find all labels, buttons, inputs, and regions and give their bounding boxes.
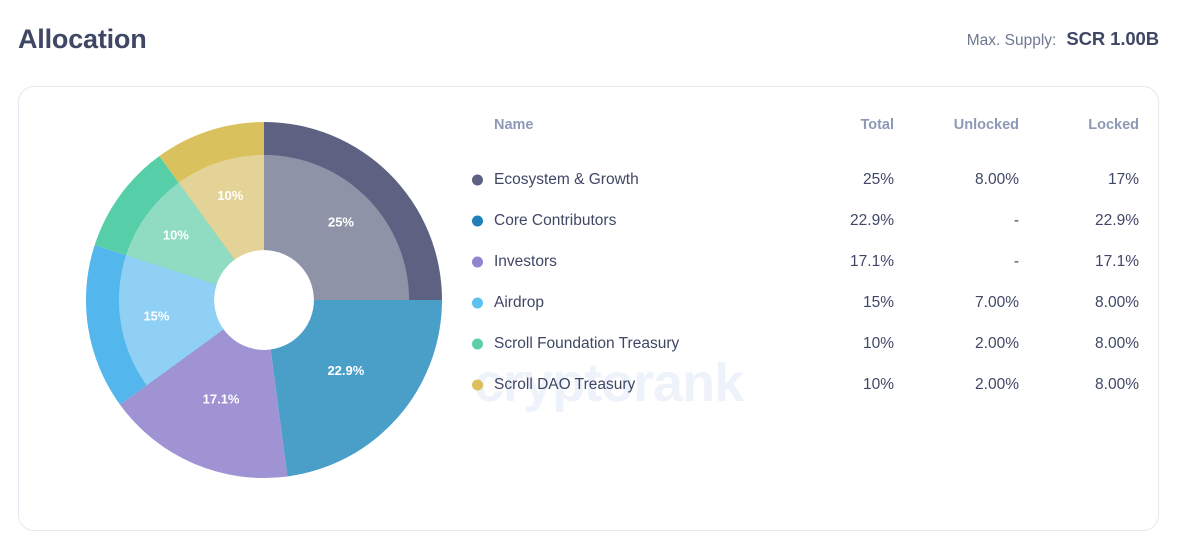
row-locked-cell: 8.00% [1019, 282, 1139, 323]
row-unlocked-cell: - [894, 200, 1019, 241]
column-header-name[interactable]: Name [459, 117, 789, 159]
legend-dot-icon [472, 256, 483, 267]
row-unlocked-cell: 7.00% [894, 282, 1019, 323]
row-unlocked-cell: - [894, 241, 1019, 282]
legend-dot-icon [472, 338, 483, 349]
row-total-cell: 10% [789, 323, 894, 364]
row-locked-cell: 22.9% [1019, 200, 1139, 241]
column-header-locked[interactable]: Locked [1019, 117, 1139, 159]
row-name-cell: Core Contributors [459, 200, 789, 241]
row-name-cell: Ecosystem & Growth [459, 159, 789, 200]
legend-dot-icon [472, 174, 483, 185]
row-label: Investors [494, 253, 557, 271]
donut-slice-label-2: 22.9% [327, 363, 364, 378]
donut-slice-label-3: 17.1% [203, 392, 240, 407]
row-label: Scroll Foundation Treasury [494, 335, 679, 353]
donut-slice-label-4: 15% [143, 308, 169, 323]
row-label: Scroll DAO Treasury [494, 376, 635, 394]
row-label: Core Contributors [494, 212, 616, 230]
donut-svg: 25%22.9%17.1%15%10%10% [68, 104, 460, 496]
table-row[interactable]: Core Contributors22.9%-22.9% [459, 200, 1139, 241]
table-row[interactable]: Investors17.1%-17.1% [459, 241, 1139, 282]
donut-slice-label-5: 10% [163, 227, 189, 242]
row-label: Airdrop [494, 294, 544, 312]
max-supply-value: SCR 1.00B [1066, 28, 1159, 50]
allocation-card: cryptorank 25%22.9%17.1%15%10%10% Name T… [18, 86, 1159, 531]
table-row[interactable]: Scroll DAO Treasury10%2.00%8.00% [459, 364, 1139, 405]
page-title: Allocation [18, 26, 147, 53]
row-locked-cell: 8.00% [1019, 364, 1139, 405]
table-row[interactable]: Airdrop15%7.00%8.00% [459, 282, 1139, 323]
row-unlocked-cell: 2.00% [894, 364, 1019, 405]
table-header: Name Total Unlocked Locked [459, 117, 1139, 159]
legend-dot-icon [472, 379, 483, 390]
column-header-unlocked[interactable]: Unlocked [894, 117, 1019, 159]
column-header-total[interactable]: Total [789, 117, 894, 159]
row-locked-cell: 8.00% [1019, 323, 1139, 364]
table-header-row: Name Total Unlocked Locked [459, 117, 1139, 159]
row-name-cell: Airdrop [459, 282, 789, 323]
donut-slice-label-1: 25% [328, 214, 354, 229]
table-body: Ecosystem & Growth25%8.00%17%Core Contri… [459, 159, 1139, 405]
row-total-cell: 10% [789, 364, 894, 405]
row-unlocked-cell: 2.00% [894, 323, 1019, 364]
allocation-donut-chart: 25%22.9%17.1%15%10%10% [68, 104, 460, 496]
row-total-cell: 25% [789, 159, 894, 200]
row-unlocked-cell: 8.00% [894, 159, 1019, 200]
row-name-cell: Scroll Foundation Treasury [459, 323, 789, 364]
row-label: Ecosystem & Growth [494, 171, 639, 189]
row-locked-cell: 17% [1019, 159, 1139, 200]
row-name-cell: Investors [459, 241, 789, 282]
row-name-cell: Scroll DAO Treasury [459, 364, 789, 405]
max-supply-group: Max. Supply: SCR 1.00B [967, 28, 1179, 50]
row-total-cell: 17.1% [789, 241, 894, 282]
donut-center-hole [214, 250, 314, 350]
max-supply-label: Max. Supply: [967, 32, 1057, 50]
row-total-cell: 15% [789, 282, 894, 323]
legend-dot-icon [472, 215, 483, 226]
allocation-table-wrapper: Name Total Unlocked Locked Ecosystem & G… [459, 117, 1139, 405]
table-row[interactable]: Scroll Foundation Treasury10%2.00%8.00% [459, 323, 1139, 364]
donut-slice-label-6: 10% [217, 188, 243, 203]
legend-dot-icon [472, 297, 483, 308]
page-header: Allocation Max. Supply: SCR 1.00B [0, 0, 1197, 78]
allocation-table: Name Total Unlocked Locked Ecosystem & G… [459, 117, 1139, 405]
row-total-cell: 22.9% [789, 200, 894, 241]
table-row[interactable]: Ecosystem & Growth25%8.00%17% [459, 159, 1139, 200]
row-locked-cell: 17.1% [1019, 241, 1139, 282]
